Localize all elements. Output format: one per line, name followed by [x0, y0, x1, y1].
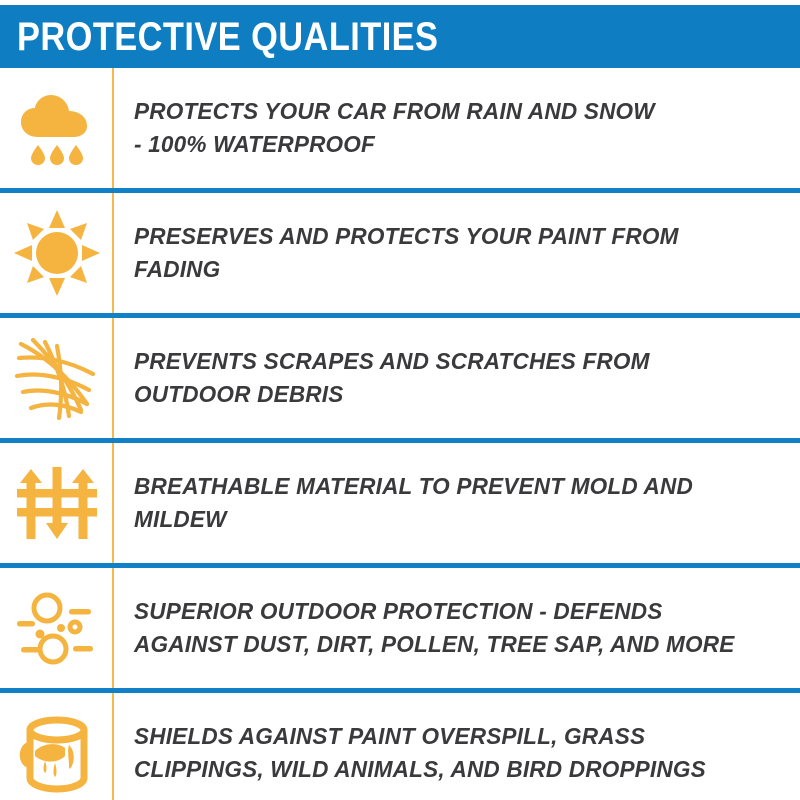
feature-line-1: SHIELDS AGAINST PAINT OVERSPILL, GRASS: [134, 723, 645, 749]
icon-cell: [0, 568, 113, 688]
feature-line-1: PRESERVES AND PROTECTS YOUR PAINT FROM: [134, 223, 679, 249]
page-title: PROTECTIVE QUALITIES: [17, 17, 438, 57]
icon-cell: [0, 193, 113, 313]
feature-line-2: CLIPPINGS, WILD ANIMALS, AND BIRD DROPPI…: [134, 756, 706, 782]
feature-line-1: PROTECTS YOUR CAR FROM RAIN AND SNOW: [134, 98, 655, 124]
sun-icon: [12, 208, 102, 298]
feature-line-2: OUTDOOR DEBRIS: [134, 381, 344, 407]
feature-row-fade-protection: PRESERVES AND PROTECTS YOUR PAINT FROM F…: [0, 193, 800, 313]
column-divider: [112, 68, 114, 188]
feature-text: SUPERIOR OUTDOOR PROTECTION - DEFENDS AG…: [134, 595, 734, 661]
column-divider: [112, 693, 114, 800]
feature-text: BREATHABLE MATERIAL TO PREVENT MOLD AND …: [134, 470, 693, 536]
feature-text: PRESERVES AND PROTECTS YOUR PAINT FROM F…: [134, 220, 679, 286]
text-cell: SHIELDS AGAINST PAINT OVERSPILL, GRASS C…: [113, 693, 800, 800]
icon-cell: [0, 443, 113, 563]
feature-line-1: SUPERIOR OUTDOOR PROTECTION - DEFENDS: [134, 598, 663, 624]
icon-cell: [0, 693, 113, 800]
text-cell: BREATHABLE MATERIAL TO PREVENT MOLD AND …: [113, 443, 800, 563]
rain-cloud-icon: [14, 85, 100, 171]
feature-line-2: AGAINST DUST, DIRT, POLLEN, TREE SAP, AN…: [134, 631, 734, 657]
feature-row-scratch-resistance: PREVENTS SCRAPES AND SCRATCHES FROM OUTD…: [0, 318, 800, 438]
feature-line-2: MILDEW: [134, 506, 227, 532]
infographic-page: PROTECTIVE QUALITIES: [0, 0, 800, 800]
feature-line-2: - 100% WATERPROOF: [134, 131, 375, 157]
text-cell: PRESERVES AND PROTECTS YOUR PAINT FROM F…: [113, 193, 800, 313]
feature-list: PROTECTS YOUR CAR FROM RAIN AND SNOW - 1…: [0, 68, 800, 800]
feature-row-breathable: BREATHABLE MATERIAL TO PREVENT MOLD AND …: [0, 443, 800, 563]
dust-particles-icon: [13, 584, 101, 672]
icon-cell: [0, 318, 113, 438]
scratch-mesh-icon: [11, 332, 103, 424]
icon-cell: [0, 68, 113, 188]
header-banner: PROTECTIVE QUALITIES: [0, 5, 800, 68]
feature-row-outdoor-protection: SUPERIOR OUTDOOR PROTECTION - DEFENDS AG…: [0, 568, 800, 688]
feature-line-2: FADING: [134, 256, 220, 282]
feature-text: PREVENTS SCRAPES AND SCRATCHES FROM OUTD…: [134, 345, 650, 411]
column-divider: [112, 318, 114, 438]
feature-text: PROTECTS YOUR CAR FROM RAIN AND SNOW - 1…: [134, 95, 655, 161]
feature-line-1: PREVENTS SCRAPES AND SCRATCHES FROM: [134, 348, 650, 374]
column-divider: [112, 443, 114, 563]
feature-line-1: BREATHABLE MATERIAL TO PREVENT MOLD AND: [134, 473, 693, 499]
text-cell: PROTECTS YOUR CAR FROM RAIN AND SNOW - 1…: [113, 68, 800, 188]
feature-row-waterproof: PROTECTS YOUR CAR FROM RAIN AND SNOW - 1…: [0, 68, 800, 188]
paint-can-icon: [13, 709, 101, 797]
feature-text: SHIELDS AGAINST PAINT OVERSPILL, GRASS C…: [134, 720, 706, 786]
column-divider: [112, 568, 114, 688]
text-cell: PREVENTS SCRAPES AND SCRATCHES FROM OUTD…: [113, 318, 800, 438]
breathable-airflow-icon: [15, 461, 99, 545]
column-divider: [112, 193, 114, 313]
feature-row-paint-shield: SHIELDS AGAINST PAINT OVERSPILL, GRASS C…: [0, 693, 800, 800]
text-cell: SUPERIOR OUTDOOR PROTECTION - DEFENDS AG…: [113, 568, 800, 688]
